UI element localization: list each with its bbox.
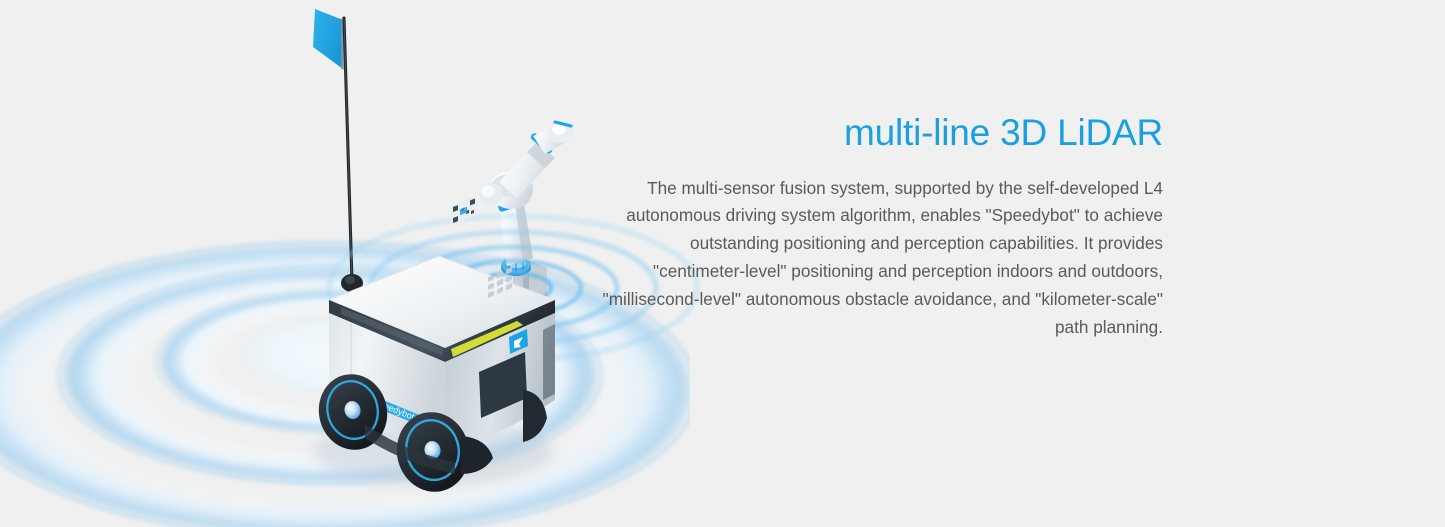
page-title: multi-line 3D LiDAR [600,112,1163,155]
pennant-flag [313,9,345,70]
rear-vent [543,324,555,400]
text-column: multi-line 3D LiDAR The multi-sensor fus… [600,112,1163,342]
description-text: The multi-sensor fusion system, supporte… [600,175,1163,342]
illustration-stage: Speedybot [0,0,1445,527]
description-block: The multi-sensor fusion system, supporte… [600,175,1163,342]
